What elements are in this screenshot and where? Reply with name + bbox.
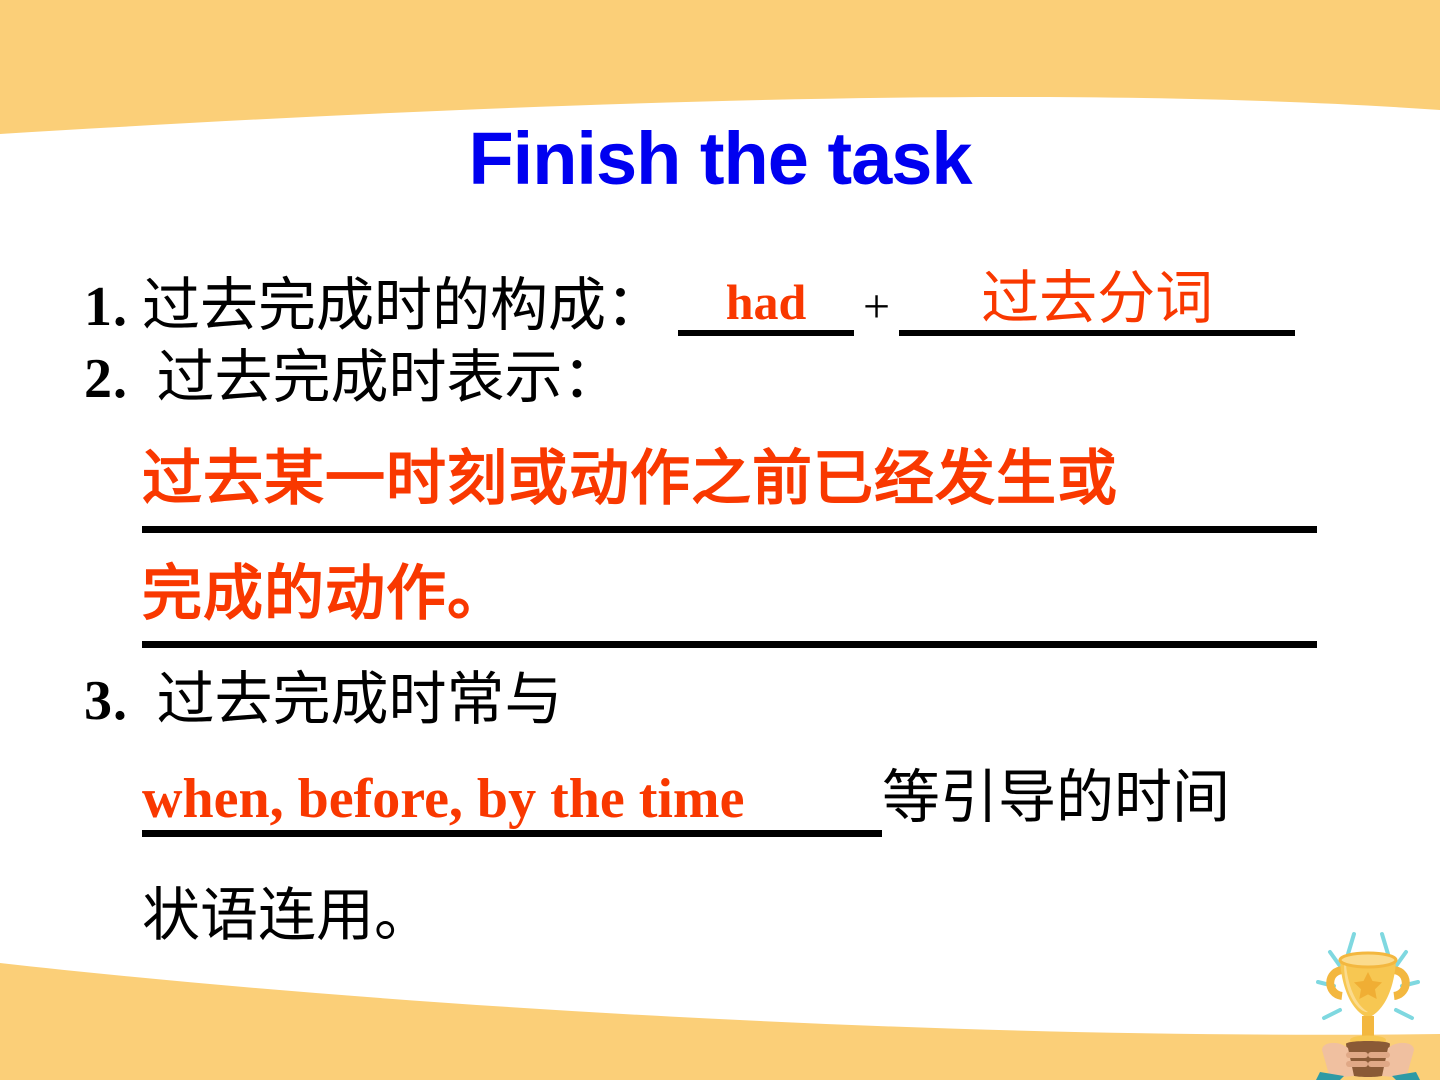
plus-operator: + [854,282,899,336]
task-item-1: 1. 过去完成时的构成： had + 过去分词 [84,258,1374,336]
answer-blank-time-conjunctions: when, before, by the time [142,770,882,837]
slide-content: Finish the task 1. 过去完成时的构成： had + 过去分词 … [0,0,1440,1080]
task-item-2: 2. 过去完成时表示： [84,336,1374,436]
trophy-icon [1296,916,1440,1080]
task-item-1-prompt: 过去完成时的构成： [142,276,664,336]
page-title: Finish the task [0,122,1440,196]
task-item-3-tail: 等引导的时间 [882,765,1230,830]
task-item-1-number: 1. [84,278,128,336]
task-item-3-last-line: 状语连用。 [142,854,1374,952]
task-item-3: 3. 过去完成时常与 [84,648,1374,762]
answer-line-meaning-1: 过去某一时刻或动作之前已经发生或 [142,436,1317,533]
trophy-rim [1340,953,1396,967]
task-item-2-prompt: 过去完成时表示： [157,345,621,410]
task-item-3-number: 3. [84,670,128,732]
answer-blank-past-participle: 过去分词 [899,269,1295,336]
task-item-2-number: 2. [84,348,128,410]
answer-line-meaning-2: 完成的动作。 [142,551,1317,648]
trophy-stem [1362,1016,1374,1036]
task-list: 1. 过去完成时的构成： had + 过去分词 2. 过去完成时表示： 过去某一… [84,258,1374,952]
task-item-3-answer-row: when, before, by the time等引导的时间 [142,762,1374,854]
task-item-3-prompt: 过去完成时常与 [157,667,563,732]
answer-blank-had: had [678,277,854,336]
